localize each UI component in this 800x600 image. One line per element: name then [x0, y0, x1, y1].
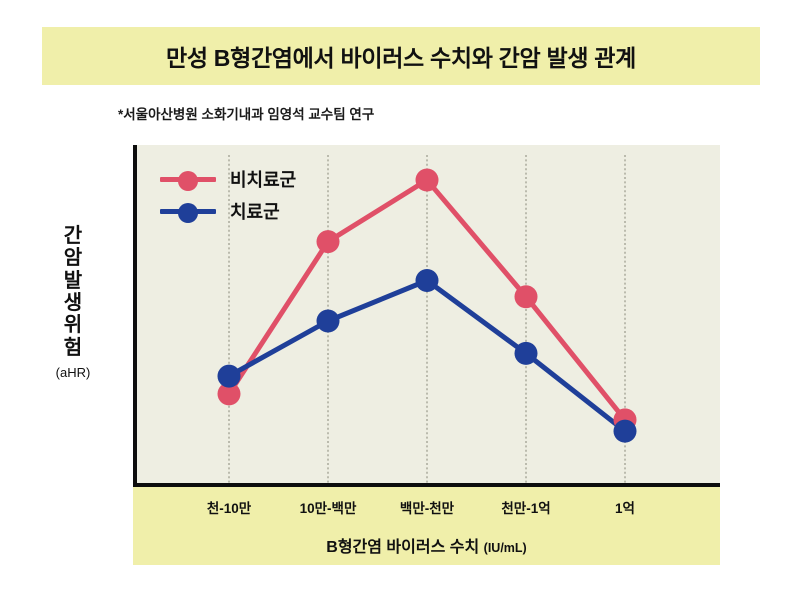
page-title: 만성 B형간염에서 바이러스 수치와 간암 발생 관계: [166, 39, 636, 73]
x-axis-title: B형간염 바이러스 수치 (IU/mL): [133, 533, 720, 557]
legend-marker-icon: [160, 169, 216, 189]
data-point[interactable]: [218, 365, 241, 388]
y-axis-char: 위: [64, 314, 82, 336]
y-axis-line: [133, 145, 137, 487]
x-axis-tick-labels: 천-10만10만-백만백만-천만천만-1억1억: [133, 497, 720, 519]
data-point[interactable]: [614, 420, 637, 443]
data-point[interactable]: [317, 310, 340, 333]
x-tick-label: 백만-천만: [400, 497, 454, 517]
y-axis-char: 험: [64, 337, 82, 359]
legend-marker-icon: [160, 201, 216, 221]
legend-label: 치료군: [230, 198, 280, 224]
y-axis-title-text: 간 암 발 생 위 험: [64, 225, 82, 359]
x-tick-label: 1억: [615, 497, 635, 517]
data-point[interactable]: [416, 269, 439, 292]
y-axis-unit: (aHR): [56, 365, 91, 380]
legend-label: 비치료군: [230, 166, 296, 192]
data-point[interactable]: [317, 230, 340, 253]
legend-item-treated[interactable]: 치료군: [160, 195, 296, 227]
y-axis-char: 생: [64, 292, 82, 314]
x-tick-label: 10만-백만: [300, 497, 357, 517]
y-axis-char: 발: [64, 270, 82, 292]
data-point[interactable]: [515, 342, 538, 365]
legend-item-untreated[interactable]: 비치료군: [160, 163, 296, 195]
x-axis-unit: (IU/mL): [484, 541, 527, 555]
y-axis-char: 암: [64, 247, 82, 269]
x-axis-title-text: B형간염 바이러스 수치: [326, 539, 479, 556]
y-axis-char: 간: [64, 225, 82, 247]
data-point[interactable]: [416, 169, 439, 192]
source-note: *서울아산병원 소화기내과 임영석 교수팀 연구: [118, 103, 374, 123]
y-axis-title: 간 암 발 생 위 험 (aHR): [46, 185, 100, 420]
chart-legend: 비치료군 치료군: [160, 163, 296, 227]
x-tick-label: 천만-1억: [501, 497, 550, 517]
data-point[interactable]: [515, 285, 538, 308]
title-banner: 만성 B형간염에서 바이러스 수치와 간암 발생 관계: [42, 27, 760, 85]
slide-canvas: 만성 B형간염에서 바이러스 수치와 간암 발생 관계 *서울아산병원 소화기내…: [0, 0, 800, 600]
x-tick-label: 천-10만: [207, 497, 251, 517]
